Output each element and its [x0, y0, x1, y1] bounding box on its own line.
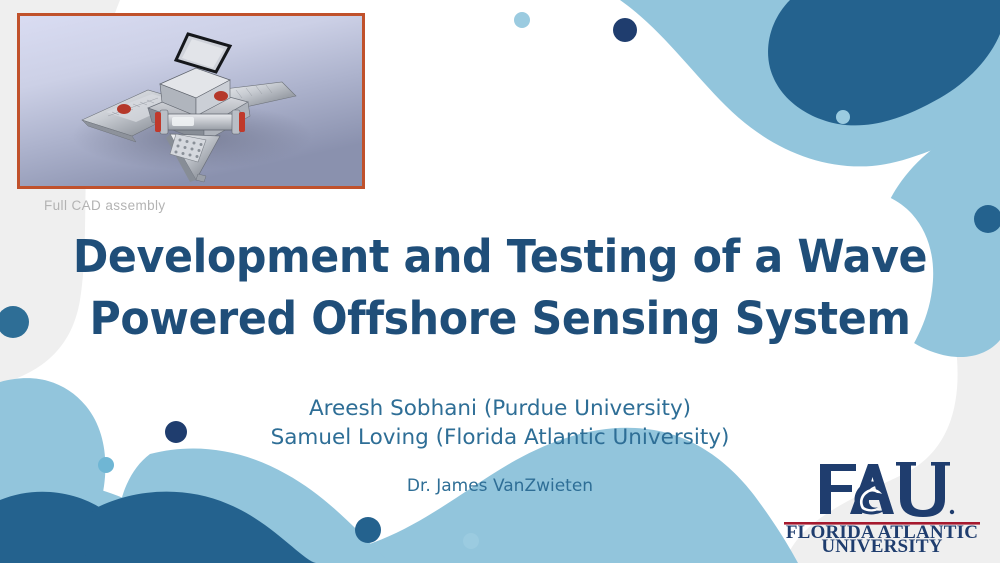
slide-title-line-2: Powered Offshore Sensing System — [25, 288, 975, 350]
dot-bottom-pale — [463, 533, 479, 549]
dot-bottom-navy — [355, 517, 381, 543]
figure-caption: Full CAD assembly — [44, 198, 166, 213]
fau-name-line-2: UNIVERSITY — [821, 536, 942, 552]
cad-assembly-image — [17, 13, 365, 189]
dot-top-pale — [514, 12, 530, 28]
presentation-slide: Full CAD assembly Development and Testin… — [0, 0, 1000, 563]
dot-right-pale — [836, 110, 850, 124]
cad-render-graphic — [20, 16, 362, 186]
fau-logo-graphic: FLORIDA ATLANTIC UNIVERSITY — [782, 452, 982, 552]
dot-left-pale — [98, 457, 114, 473]
fau-wordmark-letters — [820, 462, 954, 517]
author-list: Areesh Sobhani (Purdue University) Samue… — [0, 394, 1000, 452]
slide-title: Development and Testing of a Wave Powere… — [0, 226, 1000, 350]
fau-logo: FLORIDA ATLANTIC UNIVERSITY — [782, 452, 982, 552]
author-line-2: Samuel Loving (Florida Atlantic Universi… — [0, 423, 1000, 452]
author-line-1: Areesh Sobhani (Purdue University) — [0, 394, 1000, 423]
dot-top-navy — [613, 18, 637, 42]
slide-title-line-1: Development and Testing of a Wave — [25, 226, 975, 288]
